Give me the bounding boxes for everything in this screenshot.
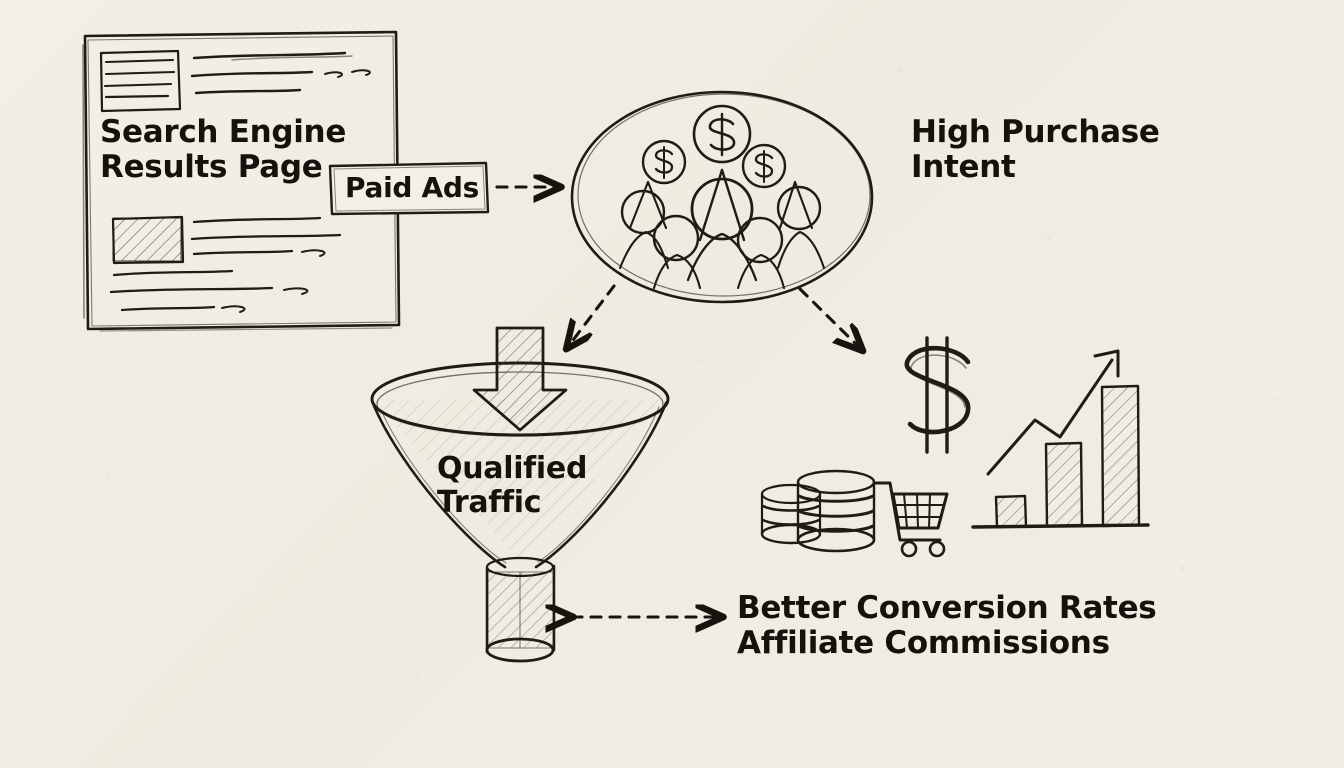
audience-person-right: [778, 182, 824, 268]
serp-thumbnail-top: [101, 51, 180, 111]
paid-ads-label: Paid Ads: [345, 172, 479, 204]
audience-oval[interactable]: [572, 92, 872, 302]
dollar-coin-center: [694, 106, 750, 162]
outcome-label: Better Conversion Rates Affiliate Commis…: [737, 591, 1156, 662]
bar-1: [996, 496, 1026, 527]
arrow-audience-to-funnel: [567, 286, 614, 348]
dollar-coin-right: [743, 145, 785, 187]
growth-bar-chart-icon: [973, 351, 1148, 527]
dollar-sign-icon: [907, 338, 968, 452]
audience-person-front-left: [654, 216, 700, 288]
arrow-audience-to-money: [800, 289, 862, 350]
audience-person-center: [688, 170, 756, 280]
money-growth-cluster[interactable]: [762, 338, 1148, 556]
diagram-canvas: Search Engine Results Page Paid Ads High…: [0, 0, 1344, 768]
funnel-spout: [487, 558, 554, 661]
serp-result-lines-top: [192, 53, 370, 93]
coin-stack-right: [798, 471, 874, 551]
dollar-coin-left: [643, 141, 685, 183]
shopping-cart-icon: [876, 483, 947, 556]
bar-2: [1046, 443, 1082, 526]
qualified-traffic-label: Qualified Traffic: [437, 452, 587, 520]
serp-label: Search Engine Results Page: [100, 115, 346, 186]
bar-3: [1102, 386, 1139, 526]
serp-thumbnail-hatched: [113, 217, 183, 263]
high-purchase-intent-label: High Purchase Intent: [911, 115, 1160, 186]
